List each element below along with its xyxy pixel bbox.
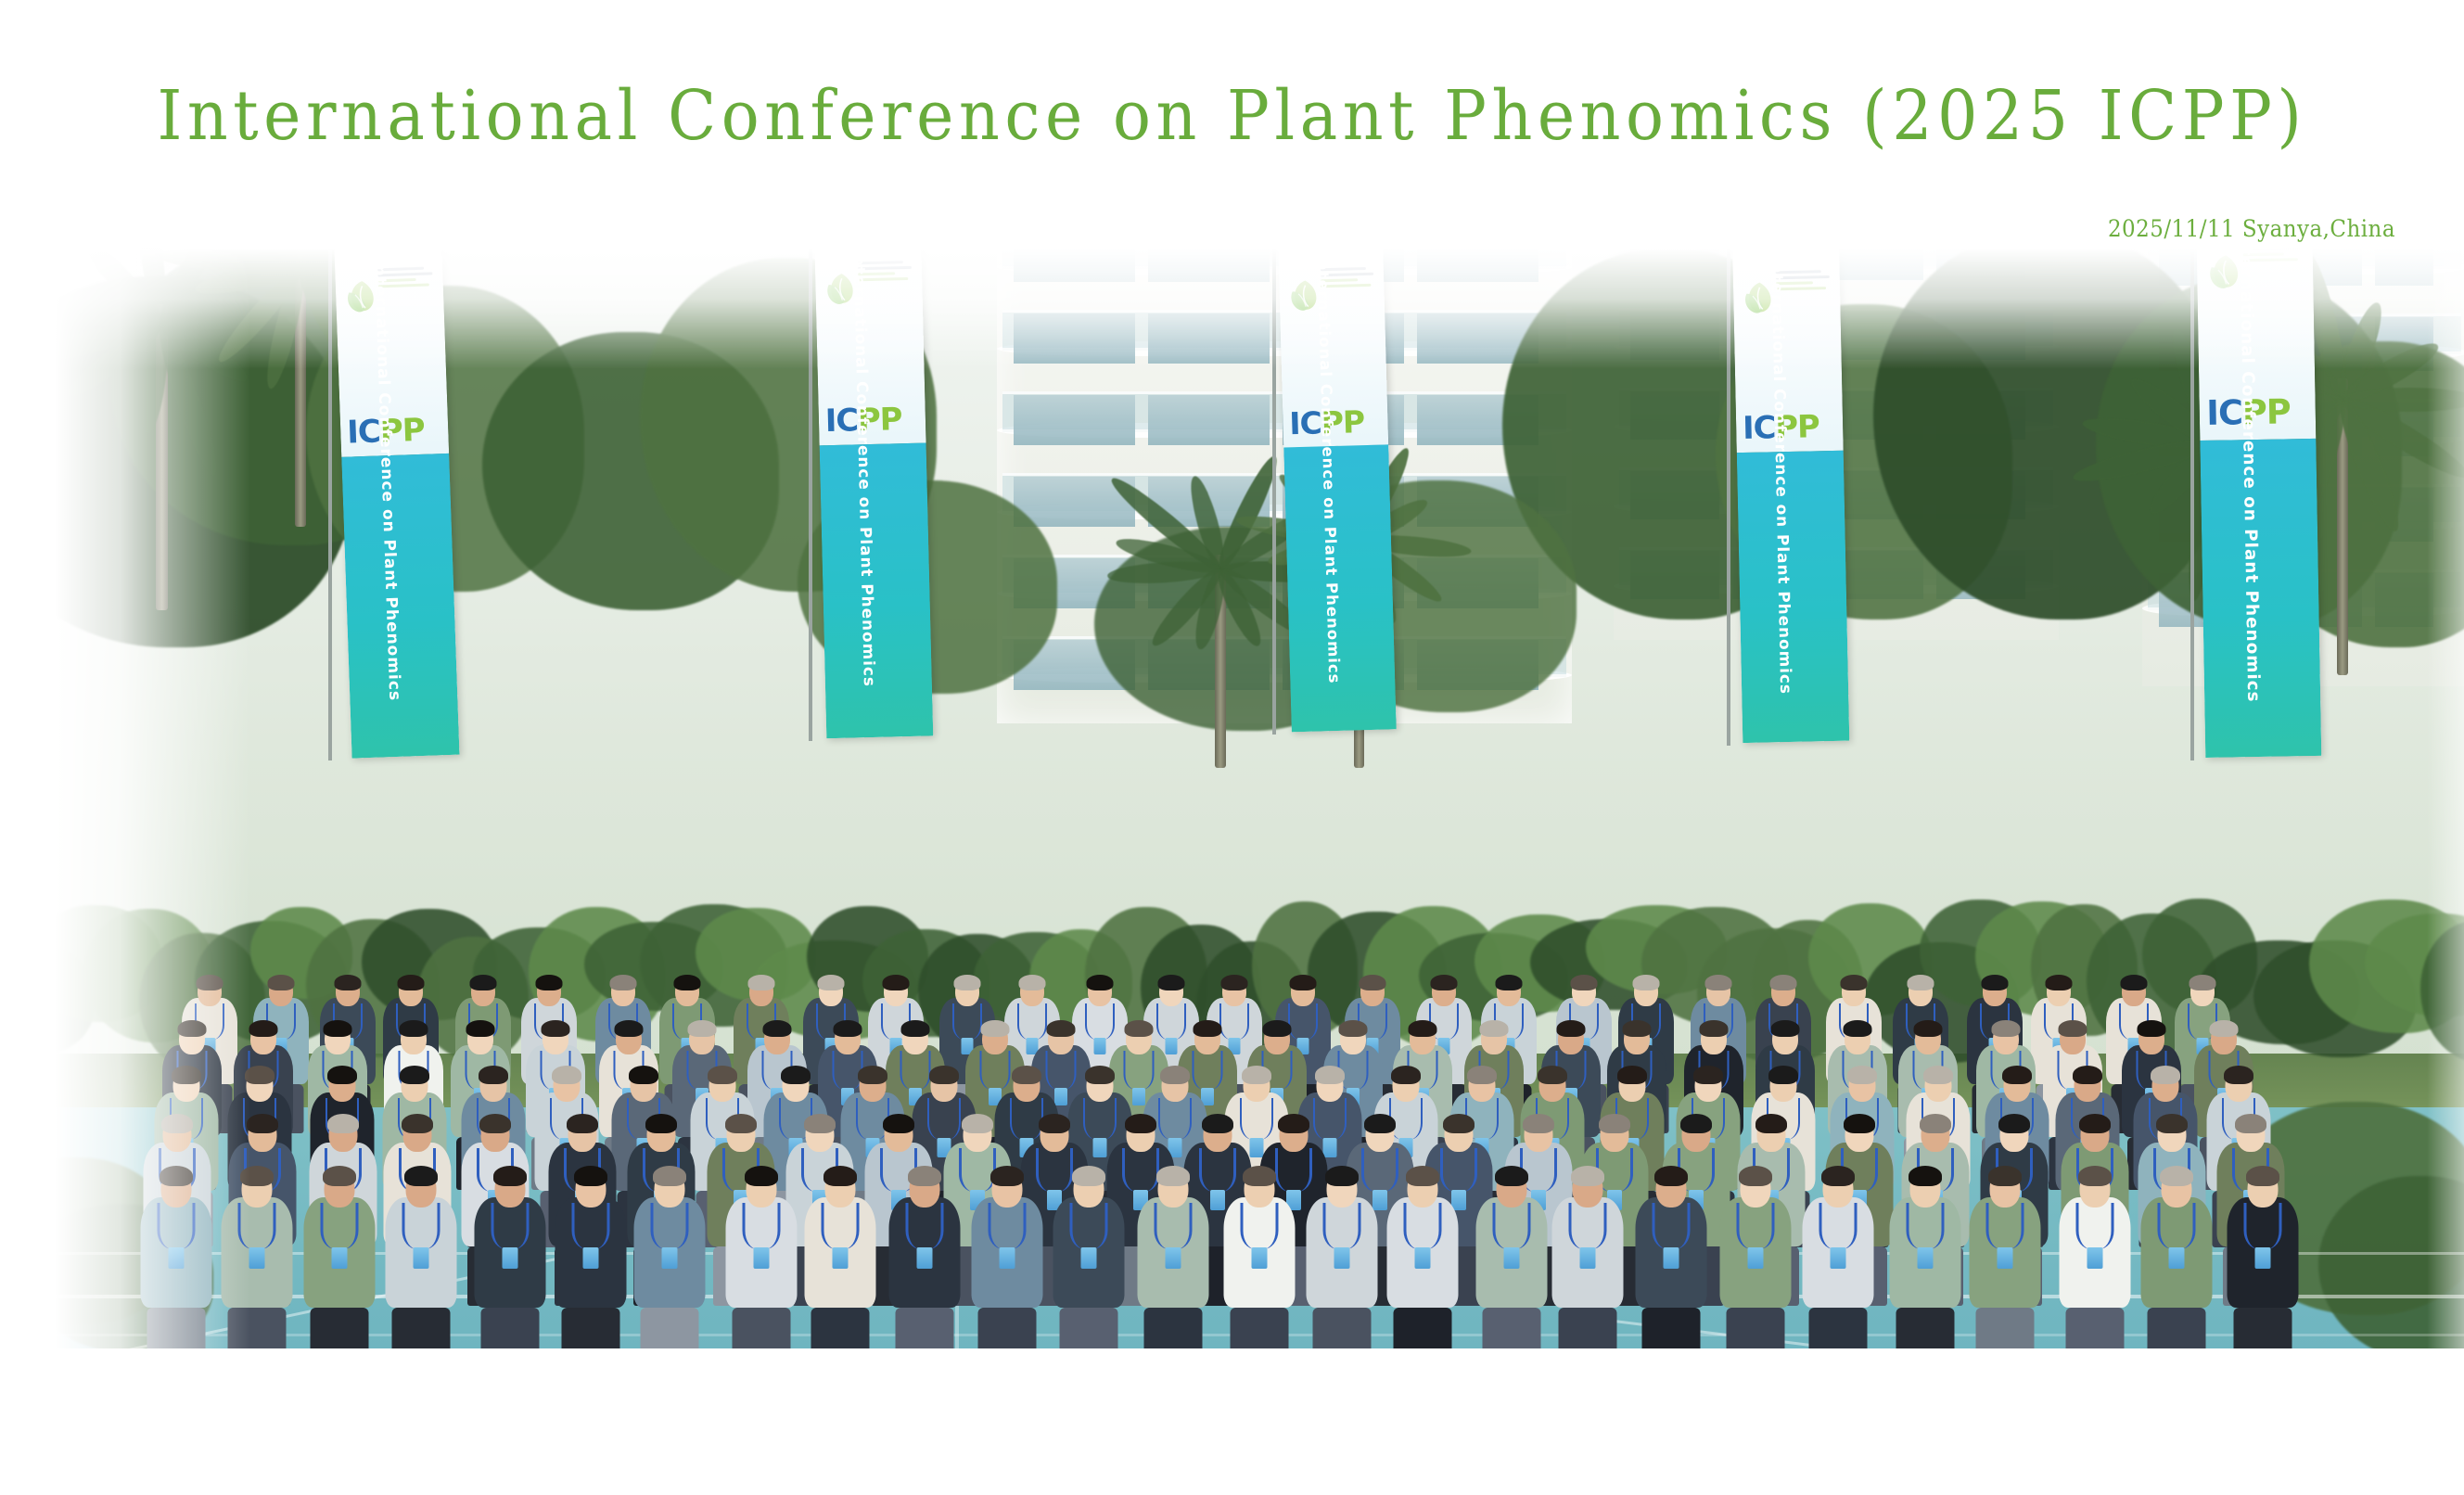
- attendee-hair: [2151, 1066, 2180, 1084]
- attendee-hair: [2209, 1020, 2238, 1037]
- attendee-legs: [1060, 1308, 1118, 1348]
- banner-bottom-panel: International Conference on Plant Phenom…: [341, 454, 459, 759]
- attendee: [1889, 1164, 1960, 1348]
- attendee-badge: [1917, 1247, 1933, 1269]
- attendee-hair: [1243, 1166, 1276, 1186]
- attendee: [1551, 1164, 1623, 1348]
- attendee-hair: [327, 1114, 359, 1133]
- attendee: [1802, 1164, 1873, 1348]
- attendee-hair: [1406, 1166, 1439, 1186]
- attendee-hair: [2156, 1114, 2188, 1133]
- attendee-hair: [1443, 1114, 1475, 1133]
- attendee-badge: [661, 1247, 677, 1269]
- attendee-badge: [1663, 1247, 1679, 1269]
- attendee-hair: [882, 975, 909, 990]
- attendee: [2060, 1164, 2131, 1348]
- attendee-legs: [1558, 1308, 1616, 1348]
- attendee-legs: [561, 1308, 619, 1348]
- attendee-badge: [1252, 1247, 1268, 1269]
- attendee-hair: [552, 1066, 581, 1084]
- attendee-hair: [1770, 975, 1797, 990]
- attendee-hair: [929, 1066, 959, 1084]
- attendee-legs: [2066, 1308, 2125, 1348]
- attendee-badge: [1000, 1247, 1015, 1269]
- attendee-legs: [811, 1308, 870, 1348]
- attendee-legs: [1144, 1308, 1203, 1348]
- attendee-hair: [1599, 1114, 1630, 1133]
- attendee: [1387, 1164, 1459, 1348]
- attendee: [1720, 1164, 1792, 1348]
- attendee-badge: [916, 1247, 932, 1269]
- attendee-hair: [1193, 1020, 1221, 1037]
- attendee-lanyard: [650, 1203, 688, 1249]
- attendee-badge: [1748, 1247, 1764, 1269]
- attendee-hair: [1278, 1114, 1309, 1133]
- attendee-hair: [653, 1166, 686, 1186]
- group-photo: ICPPInternational Conference on Plant Ph…: [0, 249, 2464, 1348]
- attendee-badge: [833, 1247, 849, 1269]
- attendee-hair: [323, 1166, 356, 1186]
- attendee-hair: [324, 1020, 352, 1037]
- banner-bottom-panel: International Conference on Plant Phenom…: [2200, 439, 2321, 758]
- attendee-hair: [1125, 1114, 1156, 1133]
- attendee-hair: [1571, 975, 1598, 990]
- attendee-legs: [1313, 1308, 1372, 1348]
- attendee-lanyard: [1155, 1203, 1193, 1249]
- attendee-hair: [1680, 1114, 1712, 1133]
- attendee-hair: [327, 1066, 357, 1084]
- attendee-hair: [610, 975, 637, 990]
- banner-bottom-panel: International Conference on Plant Phenom…: [1283, 444, 1397, 732]
- attendee-lanyard: [1568, 1203, 1606, 1249]
- attendee: [805, 1164, 876, 1348]
- attendee-legs: [1231, 1308, 1289, 1348]
- attendee-lanyard: [2244, 1203, 2282, 1249]
- attendee-lanyard: [402, 1203, 440, 1249]
- banner-bottom-panel: International Conference on Plant Phenom…: [1737, 451, 1850, 744]
- attendee: [1138, 1164, 1209, 1348]
- attendee-badge: [2169, 1247, 2185, 1269]
- attendee-hair: [1991, 1020, 2020, 1037]
- attendee-hair: [858, 1066, 887, 1084]
- attendee-hair: [1693, 1066, 1723, 1084]
- attendee-hair: [804, 1114, 836, 1133]
- attendee-hair: [1770, 1020, 1799, 1037]
- attendee-legs: [481, 1308, 540, 1348]
- attendee-hair: [2002, 1066, 2032, 1084]
- attendee-legs: [2234, 1308, 2292, 1348]
- attendee-hair: [1039, 1114, 1070, 1133]
- attendee-hair: [629, 1066, 658, 1084]
- attendee-hair: [1359, 975, 1385, 990]
- attendee-badge: [1334, 1247, 1350, 1269]
- attendee-hair: [470, 975, 497, 990]
- attendee-legs: [640, 1308, 698, 1348]
- attendee-hair: [1538, 1066, 1567, 1084]
- attendee-lanyard: [492, 1203, 530, 1249]
- attendee-hair: [1339, 1020, 1368, 1037]
- attendee-hair: [1019, 975, 1046, 990]
- attendee-hair: [574, 1166, 607, 1186]
- attendee-hair: [980, 1020, 1009, 1037]
- attendee: [1224, 1164, 1296, 1348]
- attendee-hair: [990, 1166, 1024, 1186]
- attendee-hair: [2121, 975, 2148, 990]
- attendee-legs: [2148, 1308, 2206, 1348]
- attendee-hair: [2073, 1066, 2102, 1084]
- attendee-lanyard: [1906, 1203, 1944, 1249]
- attendee-hair: [725, 1114, 757, 1133]
- attendee-legs: [311, 1308, 369, 1348]
- attendee-hair: [2058, 1020, 2087, 1037]
- attendee-hair: [1739, 1166, 1772, 1186]
- attendee-hair: [614, 1020, 643, 1037]
- attendee-hair: [1391, 1066, 1421, 1084]
- attendee-legs: [732, 1308, 790, 1348]
- attendee-hair: [1202, 1114, 1233, 1133]
- attendee-legs: [1482, 1308, 1540, 1348]
- attendee: [1475, 1164, 1547, 1348]
- attendee-badge: [1415, 1247, 1431, 1269]
- attendee: [2228, 1164, 2299, 1348]
- photo-top-fade: [0, 249, 2464, 369]
- attendee-badge: [413, 1247, 428, 1269]
- attendee-hair: [883, 1114, 914, 1133]
- attendee-legs: [1808, 1308, 1867, 1348]
- attendee-legs: [1394, 1308, 1452, 1348]
- attendee-legs: [1976, 1308, 2035, 1348]
- attendee-hair: [1046, 1020, 1075, 1037]
- page-title: International Conference on Plant Phenom…: [98, 82, 2365, 150]
- attendee-lanyard: [1492, 1203, 1530, 1249]
- attendee-lanyard: [742, 1203, 780, 1249]
- attendee-lanyard: [822, 1203, 860, 1249]
- attendee-hair: [247, 1114, 278, 1133]
- attendee-badge: [332, 1247, 348, 1269]
- attendee-hair: [2078, 1166, 2112, 1186]
- attendee-hair: [1844, 1114, 1875, 1133]
- attendee-hair: [267, 975, 294, 990]
- photo-right-fade: [2427, 249, 2464, 1348]
- attendee-lanyard: [2076, 1203, 2114, 1249]
- attendee-legs: [391, 1308, 450, 1348]
- attendee-hair: [249, 1020, 278, 1037]
- attendee: [633, 1164, 705, 1348]
- attendee-lanyard: [1737, 1203, 1775, 1249]
- attendee-hair: [1998, 1114, 2030, 1133]
- attendee-hair: [400, 1066, 429, 1084]
- attendee-hair: [745, 1166, 778, 1186]
- attendee-legs: [895, 1308, 953, 1348]
- attendee-lanyard: [1323, 1203, 1361, 1249]
- attendee-hair: [1156, 1166, 1190, 1186]
- attendee-hair: [763, 1020, 792, 1037]
- attendee-hair: [1623, 1020, 1652, 1037]
- attendee-hair: [1085, 1066, 1115, 1084]
- attendee-lanyard: [2158, 1203, 2196, 1249]
- attendee-hair: [1843, 1020, 1871, 1037]
- attendee-hair: [1909, 1166, 1942, 1186]
- attendee-hair: [781, 1066, 811, 1084]
- attendee-lanyard: [1652, 1203, 1690, 1249]
- attendee-hair: [823, 1166, 857, 1186]
- attendee-hair: [2138, 1020, 2166, 1037]
- attendee: [725, 1164, 797, 1348]
- attendee-badge: [249, 1247, 264, 1269]
- attendee-lanyard: [571, 1203, 609, 1249]
- attendee-hair: [748, 975, 775, 990]
- conference-poster: International Conference on Plant Phenom…: [0, 0, 2464, 1495]
- attendee-badge: [1503, 1247, 1519, 1269]
- attendee-hair: [2246, 1166, 2279, 1186]
- attendee: [1053, 1164, 1125, 1348]
- attendee-hair: [1012, 1066, 1041, 1084]
- attendee-hair: [1654, 1166, 1688, 1186]
- attendee-badge: [753, 1247, 769, 1269]
- attendee-hair: [2046, 975, 2073, 990]
- attendee-hair: [688, 1020, 717, 1037]
- photo-left-fade: [0, 249, 250, 1348]
- attendee-badge: [503, 1247, 518, 1269]
- attendee-legs: [1641, 1308, 1700, 1348]
- attendee-badge: [582, 1247, 598, 1269]
- poster-header: International Conference on Plant Phenom…: [0, 0, 2464, 260]
- attendee-hair: [708, 1066, 737, 1084]
- attendee-hair: [1480, 1020, 1509, 1037]
- attendee-badge: [1579, 1247, 1595, 1269]
- attendee-lanyard: [1986, 1203, 2024, 1249]
- attendee-hair: [399, 1020, 428, 1037]
- attendee-hair: [2190, 975, 2216, 990]
- attendee-lanyard: [321, 1203, 359, 1249]
- attendee-hair: [1920, 1114, 1951, 1133]
- attendee-badge: [1830, 1247, 1845, 1269]
- attendee: [2141, 1164, 2213, 1348]
- attendee-hair: [567, 1114, 598, 1133]
- attendee-hair: [901, 1020, 930, 1037]
- banner-bottom-panel: International Conference on Plant Phenom…: [820, 442, 934, 738]
- attendee: [888, 1164, 960, 1348]
- attendee-hair: [1908, 975, 1934, 990]
- attendee: [555, 1164, 626, 1348]
- attendee-hair: [1523, 1114, 1554, 1133]
- attendee-hair: [2235, 1114, 2266, 1133]
- attendee-hair: [1431, 975, 1458, 990]
- attendee-hair: [908, 1166, 941, 1186]
- attendee-hair: [1467, 1066, 1497, 1084]
- bottom-white-margin: [0, 1348, 2464, 1495]
- attendee-hair: [1923, 1066, 1953, 1084]
- attendee-hair: [1289, 975, 1316, 990]
- attendee-hair: [1557, 1020, 1586, 1037]
- date-location-subtitle: 2025/11/11 Syanya,China: [2108, 215, 2395, 242]
- attendee-hair: [466, 1020, 495, 1037]
- attendee: [385, 1164, 456, 1348]
- attendee-hair: [1263, 1020, 1292, 1037]
- attendee-lanyard: [1241, 1203, 1279, 1249]
- attendee-hair: [833, 1020, 862, 1037]
- attendee-hair: [1914, 1020, 1943, 1037]
- attendee-badge: [2087, 1247, 2103, 1269]
- attendee-hair: [1496, 975, 1523, 990]
- attendee-badge: [1093, 1038, 1105, 1054]
- attendee-badge: [1166, 1247, 1181, 1269]
- attendee-badge: [1093, 1138, 1107, 1157]
- attendee-lanyard: [1070, 1203, 1108, 1249]
- attendee-hair: [1495, 1166, 1528, 1186]
- attendee-hair: [1571, 1166, 1604, 1186]
- attendee-hair: [1408, 1020, 1436, 1037]
- attendee-hair: [397, 975, 424, 990]
- attendee-hair: [404, 1166, 438, 1186]
- attendee: [1635, 1164, 1706, 1348]
- attendee-legs: [1727, 1308, 1785, 1348]
- attendee-hair: [1221, 975, 1248, 990]
- attendee: [1970, 1164, 2041, 1348]
- attendee-hair: [1841, 975, 1868, 990]
- attendee-hair: [954, 975, 981, 990]
- attendee-hair: [402, 1114, 433, 1133]
- attendee-lanyard: [1819, 1203, 1857, 1249]
- attendee-hair: [962, 1114, 993, 1133]
- attendee-badge: [1998, 1247, 2013, 1269]
- attendee-legs: [1896, 1308, 1954, 1348]
- attendee: [304, 1164, 376, 1348]
- attendee-hair: [536, 975, 563, 990]
- attendee-hair: [1632, 975, 1659, 990]
- attendee-hair: [1157, 975, 1184, 990]
- attendee-lanyard: [1404, 1203, 1442, 1249]
- attendee-hair: [2160, 1166, 2193, 1186]
- attendee-hair: [1705, 975, 1732, 990]
- attendee-hair: [1072, 1166, 1105, 1186]
- attendee-hair: [1699, 1020, 1728, 1037]
- attendee-hair: [1125, 1020, 1154, 1037]
- attendee-badge: [2255, 1247, 2271, 1269]
- attendee-hair: [1325, 1166, 1359, 1186]
- attendee-badge: [1081, 1247, 1097, 1269]
- attendee-hair: [1982, 975, 2009, 990]
- attendee-hair: [479, 1066, 508, 1084]
- attendee-hair: [1086, 975, 1113, 990]
- attendee-hair: [542, 1020, 570, 1037]
- attendee-hair: [645, 1114, 677, 1133]
- attendee-hair: [1364, 1114, 1396, 1133]
- attendee-hair: [1617, 1066, 1647, 1084]
- attendee-hair: [1768, 1066, 1798, 1084]
- attendee-hair: [493, 1166, 527, 1186]
- attendee-hair: [1988, 1166, 2022, 1186]
- attendee-hair: [2224, 1066, 2253, 1084]
- attendee-hair: [673, 975, 700, 990]
- attendee-hair: [817, 975, 844, 990]
- attendee-hair: [2079, 1114, 2111, 1133]
- attendee: [1307, 1164, 1378, 1348]
- attendee-legs: [978, 1308, 1037, 1348]
- attendee-hair: [1847, 1066, 1877, 1084]
- attendee-hair: [1242, 1066, 1271, 1084]
- attendee-lanyard: [905, 1203, 943, 1249]
- attendee-lanyard: [989, 1203, 1027, 1249]
- attendee-hair: [1821, 1166, 1855, 1186]
- attendee: [972, 1164, 1043, 1348]
- attendee: [475, 1164, 546, 1348]
- attendee-hair: [1755, 1114, 1787, 1133]
- attendee-hair: [479, 1114, 511, 1133]
- attendee-hair: [1315, 1066, 1345, 1084]
- attendee-hair: [334, 975, 361, 990]
- attendee-hair: [1160, 1066, 1190, 1084]
